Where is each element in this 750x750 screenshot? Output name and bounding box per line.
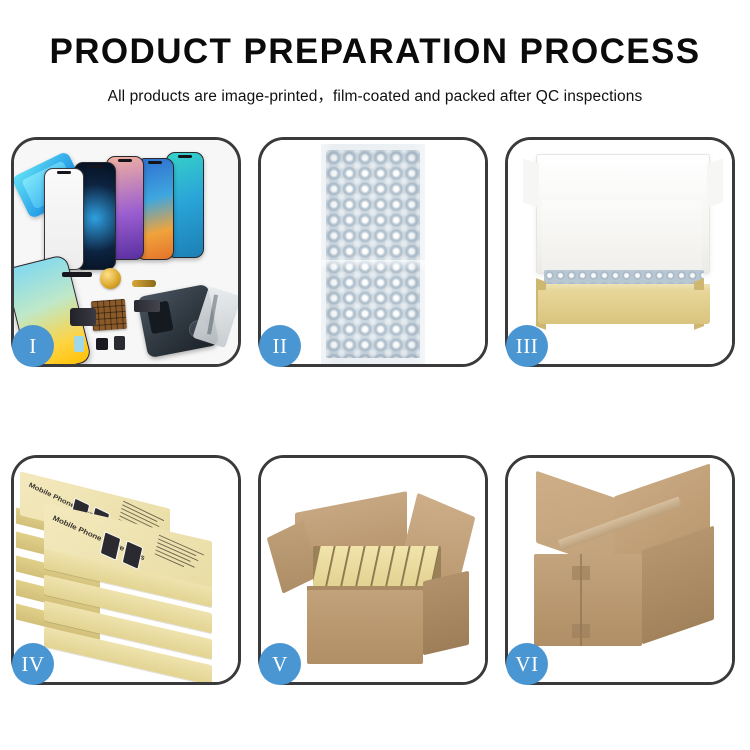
page-title: PRODUCT PREPARATION PROCESS (0, 34, 750, 69)
phone-graphic-icon (100, 531, 122, 561)
flex-cable-icon (132, 280, 156, 287)
foam-sheet-icon (542, 200, 702, 272)
step-panel-5: V (258, 455, 488, 685)
carton-tab (572, 624, 590, 638)
carton-front-face (307, 590, 423, 664)
page-subtitle: All products are image-printed，film-coat… (0, 84, 750, 106)
box-spec-lines (154, 535, 204, 577)
small-part-icon (96, 338, 108, 350)
step-badge-6: VI (506, 643, 548, 685)
speaker-part-icon (100, 268, 121, 289)
step-badge-4: IV (12, 643, 54, 685)
step-panel-6: VI (505, 455, 735, 685)
small-part-icon (114, 336, 125, 350)
flex-cable-icon (62, 272, 92, 277)
flex-cable-icon (70, 308, 96, 326)
chip-grid-icon (91, 299, 127, 331)
wrap-sheen (321, 260, 425, 270)
screen-glass-icon (44, 168, 84, 270)
carton-tab (572, 566, 590, 580)
bubble-wrap-icon (326, 150, 420, 358)
step-badge-1: I (12, 325, 54, 367)
flex-cable-icon (134, 300, 160, 312)
header: PRODUCT PREPARATION PROCESS All products… (0, 0, 750, 106)
product-preparation-infographic: PRODUCT PREPARATION PROCESS All products… (0, 0, 750, 750)
small-part-icon (74, 336, 84, 352)
step-panel-4: Mobile Phone Spare Parts Mobile Phone Sp… (11, 455, 241, 685)
phone-graphic-icon (122, 540, 144, 570)
process-steps-grid: I II III (11, 137, 739, 685)
step-panel-2: II (258, 137, 488, 367)
step-badge-3: III (506, 325, 548, 367)
step-badge-5: V (259, 643, 301, 685)
carton-side-face (423, 571, 469, 656)
step-badge-2: II (259, 325, 301, 367)
step-panel-3: III (505, 137, 735, 367)
step-panel-1: I (11, 137, 241, 367)
kraft-box-icon (538, 290, 710, 324)
